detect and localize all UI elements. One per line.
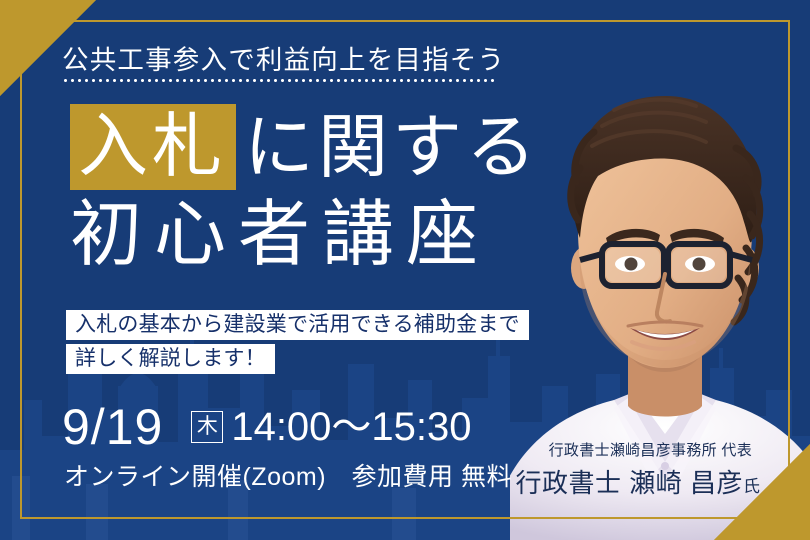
speaker-personal-name: 瀬崎 昌彦 [629, 468, 743, 498]
speaker-name: 行政書士 瀬崎 昌彦氏 [516, 468, 760, 502]
event-venue: オンライン開催(Zoom) 参加費用 無料 [64, 462, 512, 492]
speaker-organization: 行政書士瀬崎昌彦事務所 代表 [549, 442, 752, 460]
tagline: 公共工事参入で利益向上を目指そう [62, 38, 505, 77]
dotted-separator [62, 79, 496, 82]
speaker-honorific: 氏 [743, 477, 760, 496]
lead-line-1: 入札の基本から建設業で活用できる補助金まで [66, 310, 529, 340]
title-highlight: 入札 [70, 104, 236, 190]
speaker-title-prefix: 行政書士 [516, 468, 630, 498]
day-of-week-badge: 木 [191, 411, 223, 443]
seminar-poster: 公共工事参入で利益向上を目指そう 入札 に関する 初心者講座 入札の基本から建設… [0, 0, 810, 540]
event-time: 14:00〜15:30 [231, 405, 471, 449]
title-line-1: 入札 に関する [70, 103, 540, 191]
title-line-2: 初心者講座 [70, 191, 490, 279]
title-line-1-rest: に関する [244, 106, 540, 188]
poster-content: 公共工事参入で利益向上を目指そう 入札 に関する 初心者講座 入札の基本から建設… [0, 0, 810, 540]
lead-line-2: 詳しく解説します！ [66, 344, 275, 374]
event-date: 9/19 [62, 400, 163, 454]
schedule-row: 9/19 木 14:00〜15:30 [62, 400, 472, 454]
